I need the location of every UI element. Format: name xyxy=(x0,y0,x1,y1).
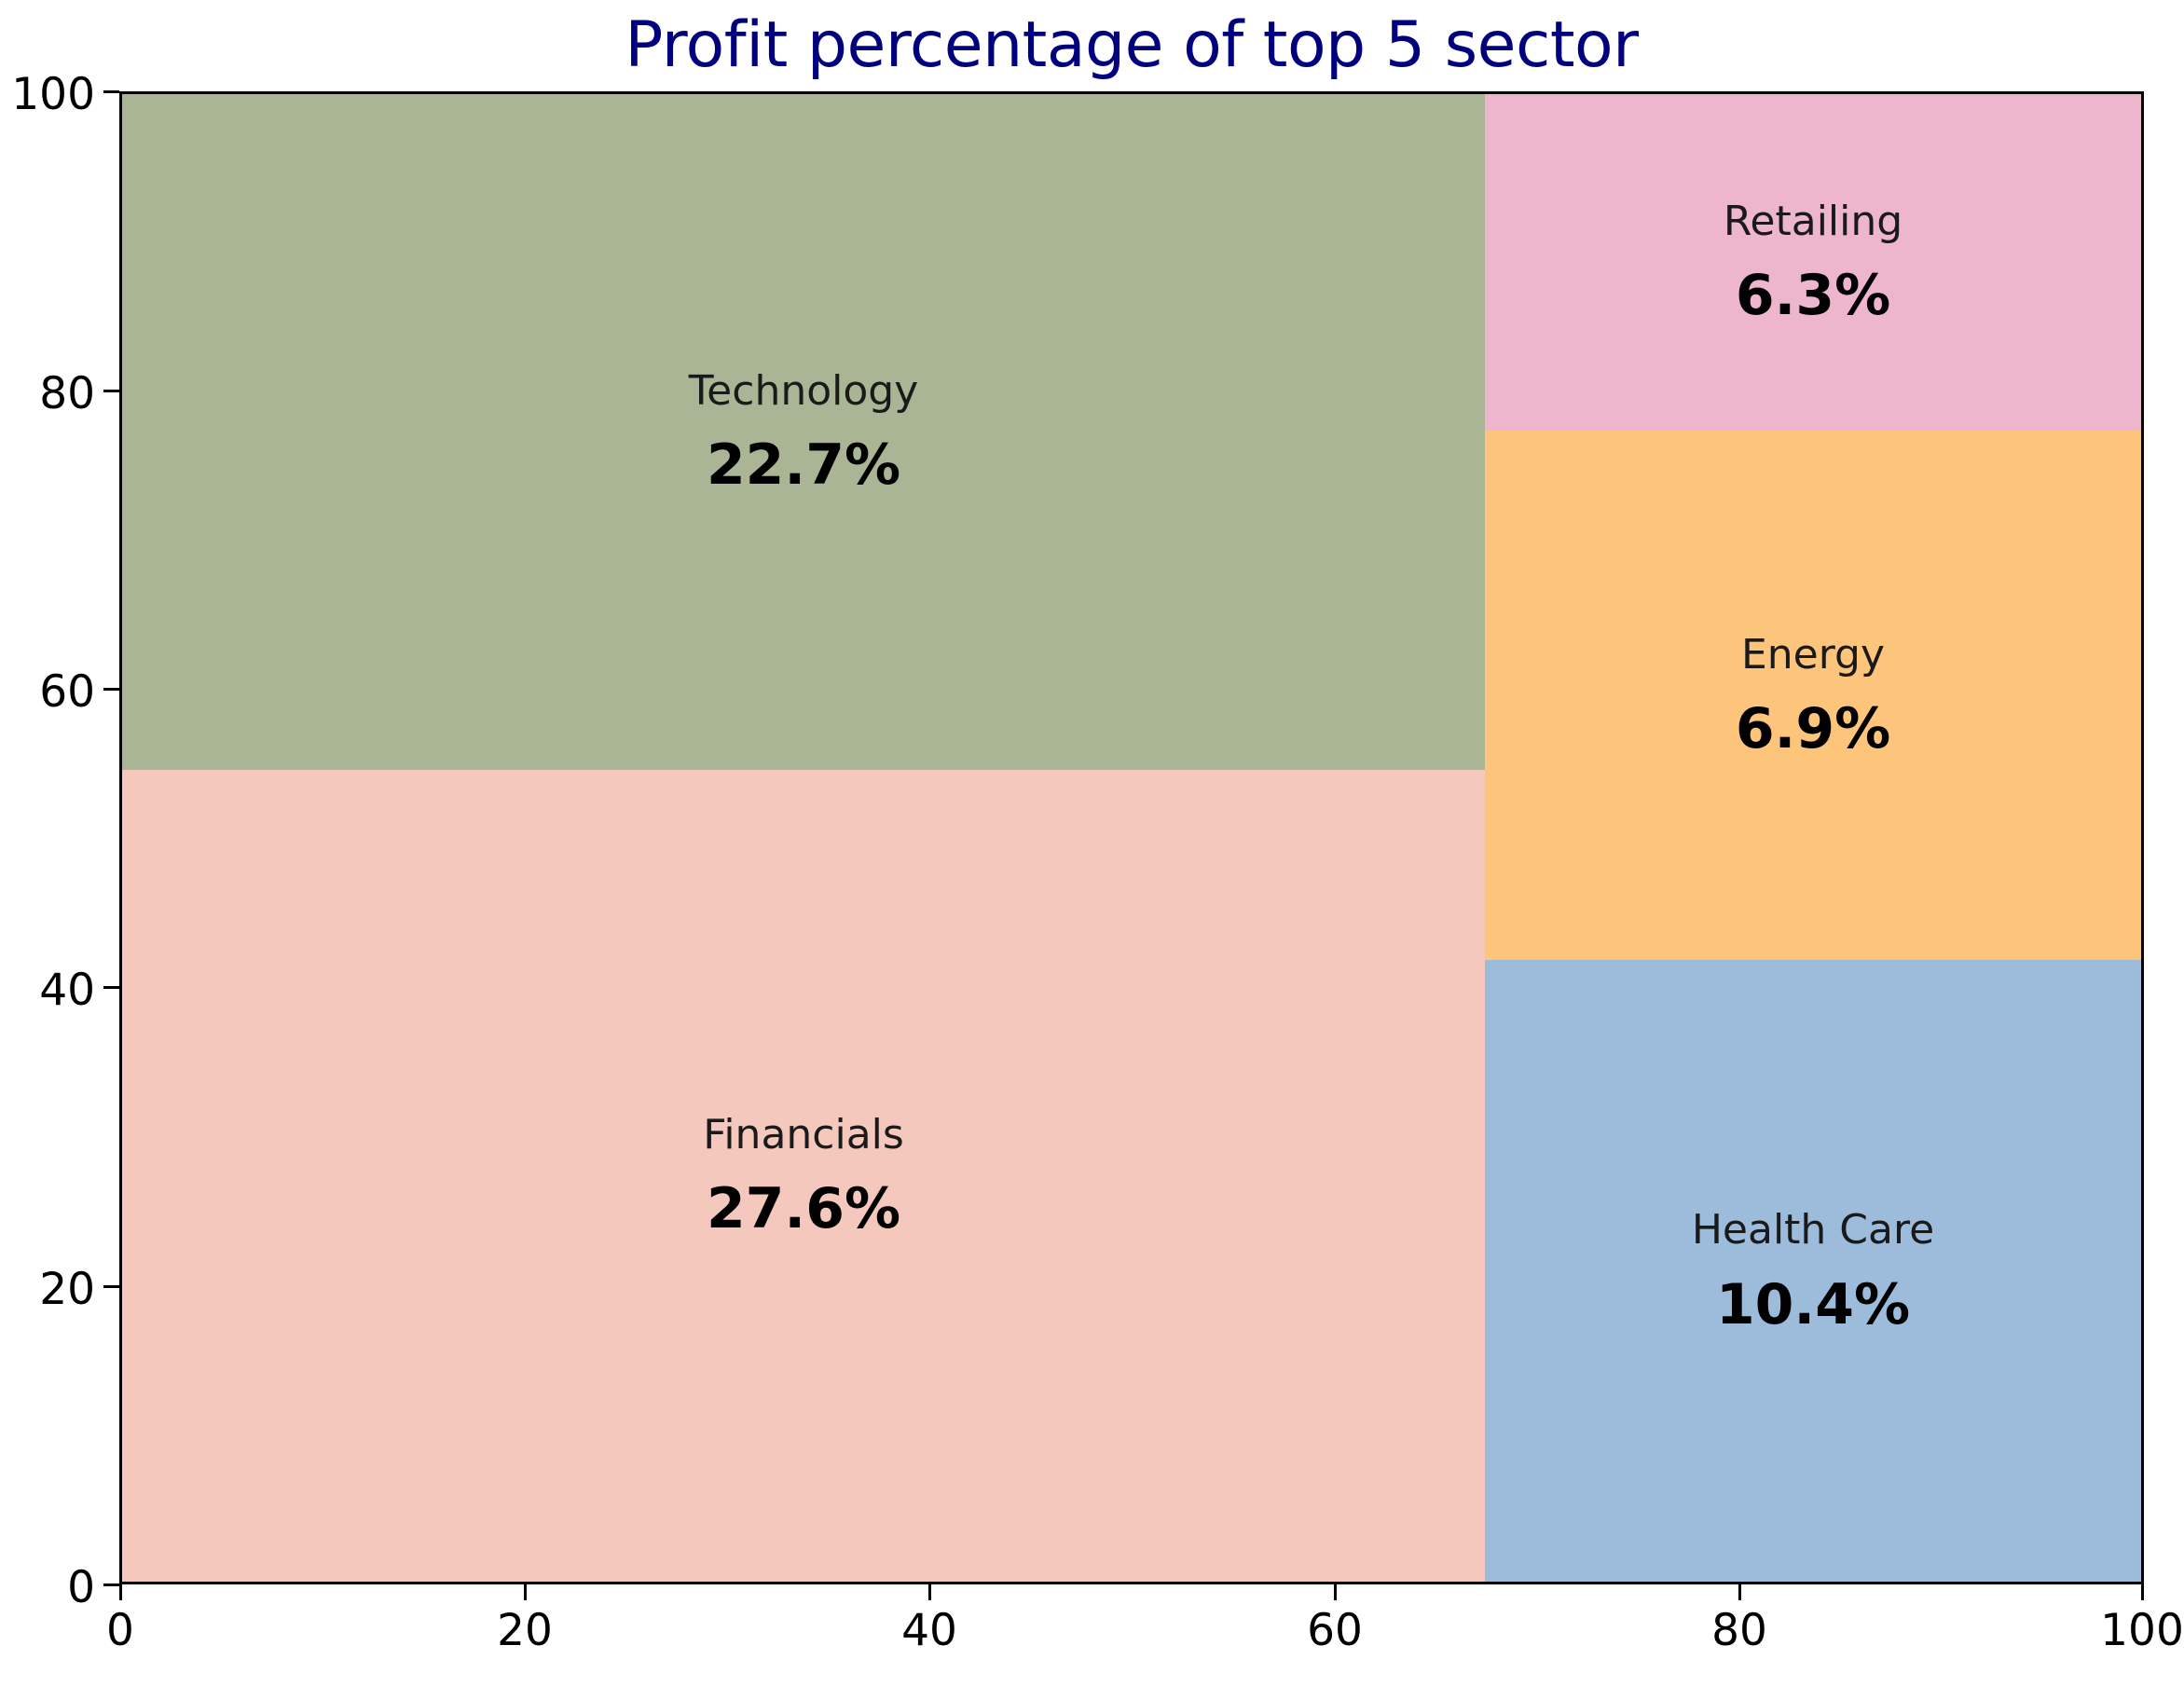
y-tick-mark-80 xyxy=(103,390,119,392)
treemap-cell-energy[interactable]: Energy 6.9% xyxy=(1485,431,2141,960)
x-tick-label-20: 20 xyxy=(450,1605,599,1656)
x-tick-mark-80 xyxy=(1738,1584,1741,1600)
x-tick-label-60: 60 xyxy=(1260,1605,1409,1656)
treemap-cell-financials[interactable]: Financials 27.6% xyxy=(122,770,1485,1582)
x-tick-label-80: 80 xyxy=(1665,1605,1814,1656)
treemap-cell-energy-label: Energy xyxy=(1741,634,1885,677)
x-tick-label-100: 100 xyxy=(2067,1605,2184,1656)
y-tick-mark-40 xyxy=(103,986,119,989)
treemap-cell-retailing[interactable]: Retailing 6.3% xyxy=(1485,94,2141,431)
plot-area: Technology 22.7% Financials 27.6% Retail… xyxy=(119,91,2144,1584)
x-tick-label-0: 0 xyxy=(46,1605,195,1656)
treemap-cell-healthcare[interactable]: Health Care 10.4% xyxy=(1485,960,2141,1582)
x-tick-mark-40 xyxy=(928,1584,931,1600)
y-tick-label-40: 40 xyxy=(2,965,95,1016)
treemap: Technology 22.7% Financials 27.6% Retail… xyxy=(122,94,2141,1582)
treemap-column-right: Retailing 6.3% Energy 6.9% Health Care 1… xyxy=(1485,94,2141,1582)
treemap-cell-technology-value: 22.7% xyxy=(707,437,900,493)
y-tick-mark-0 xyxy=(103,1583,119,1586)
y-tick-label-80: 80 xyxy=(2,368,95,419)
treemap-cell-financials-value: 27.6% xyxy=(707,1181,900,1237)
y-tick-mark-20 xyxy=(103,1285,119,1288)
chart-figure: Profit percentage of top 5 sector 0 20 4… xyxy=(0,0,2184,1700)
treemap-cell-financials-label: Financials xyxy=(703,1114,904,1157)
y-tick-mark-100 xyxy=(103,90,119,93)
y-tick-label-60: 60 xyxy=(2,666,95,718)
chart-title: Profit percentage of top 5 sector xyxy=(119,7,2144,84)
x-tick-mark-0 xyxy=(119,1584,122,1600)
x-tick-mark-100 xyxy=(2141,1584,2144,1600)
x-tick-label-40: 40 xyxy=(855,1605,1004,1656)
y-tick-label-100: 100 xyxy=(2,69,95,120)
treemap-cell-retailing-label: Retailing xyxy=(1724,200,1902,243)
treemap-cell-energy-value: 6.9% xyxy=(1736,701,1890,757)
treemap-cell-healthcare-label: Health Care xyxy=(1692,1209,1934,1252)
x-tick-mark-20 xyxy=(524,1584,527,1600)
treemap-cell-retailing-value: 6.3% xyxy=(1736,267,1890,323)
y-tick-label-20: 20 xyxy=(2,1264,95,1315)
x-tick-mark-60 xyxy=(1334,1584,1337,1600)
y-tick-mark-60 xyxy=(103,688,119,691)
treemap-column-left: Technology 22.7% Financials 27.6% xyxy=(122,94,1485,1582)
treemap-cell-technology[interactable]: Technology 22.7% xyxy=(122,94,1485,770)
treemap-cell-technology-label: Technology xyxy=(689,370,918,413)
treemap-cell-healthcare-value: 10.4% xyxy=(1716,1277,1910,1333)
